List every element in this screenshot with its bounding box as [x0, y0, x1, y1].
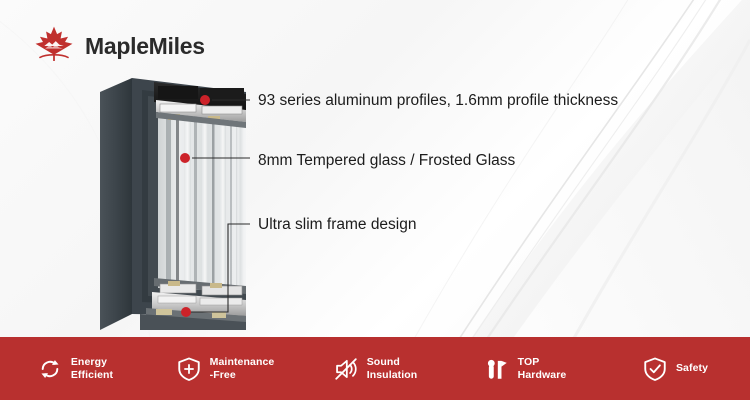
maple-leaf-icon	[32, 24, 76, 68]
feature-safety[interactable]: Safety	[600, 356, 750, 382]
feature-sound-insulation[interactable]: Sound Insulation	[300, 356, 450, 382]
promo-banner: MapleMiles	[0, 0, 750, 400]
feature-top-hardware-label: TOP Hardware	[518, 356, 567, 382]
muted-speaker-icon	[333, 356, 359, 382]
feature-energy-efficient[interactable]: Energy Efficient	[0, 356, 150, 382]
feature-energy-efficient-label: Energy Efficient	[71, 356, 113, 382]
callout-label-slim-frame: Ultra slim frame design	[258, 217, 417, 233]
callout-label-tempered-glass: 8mm Tempered glass / Frosted Glass	[258, 153, 515, 169]
feature-bar: Energy Efficient Maintenance -Free S	[0, 337, 750, 400]
recycle-arrows-icon	[37, 356, 63, 382]
shield-plus-icon	[176, 356, 202, 382]
feature-sound-insulation-label: Sound Insulation	[367, 356, 418, 382]
feature-top-hardware[interactable]: TOP Hardware	[450, 356, 600, 382]
brand-name: MapleMiles	[85, 33, 205, 60]
aluminum-window-product-image	[96, 78, 256, 330]
feature-maintenance-free[interactable]: Maintenance -Free	[150, 356, 300, 382]
callout-label-aluminum-profiles: 93 series aluminum profiles, 1.6mm profi…	[258, 93, 618, 109]
shield-check-icon	[642, 356, 668, 382]
brand-logo[interactable]: MapleMiles	[32, 24, 205, 68]
feature-maintenance-free-label: Maintenance -Free	[210, 356, 275, 382]
window-handle-icon	[484, 356, 510, 382]
feature-safety-label: Safety	[676, 362, 708, 375]
